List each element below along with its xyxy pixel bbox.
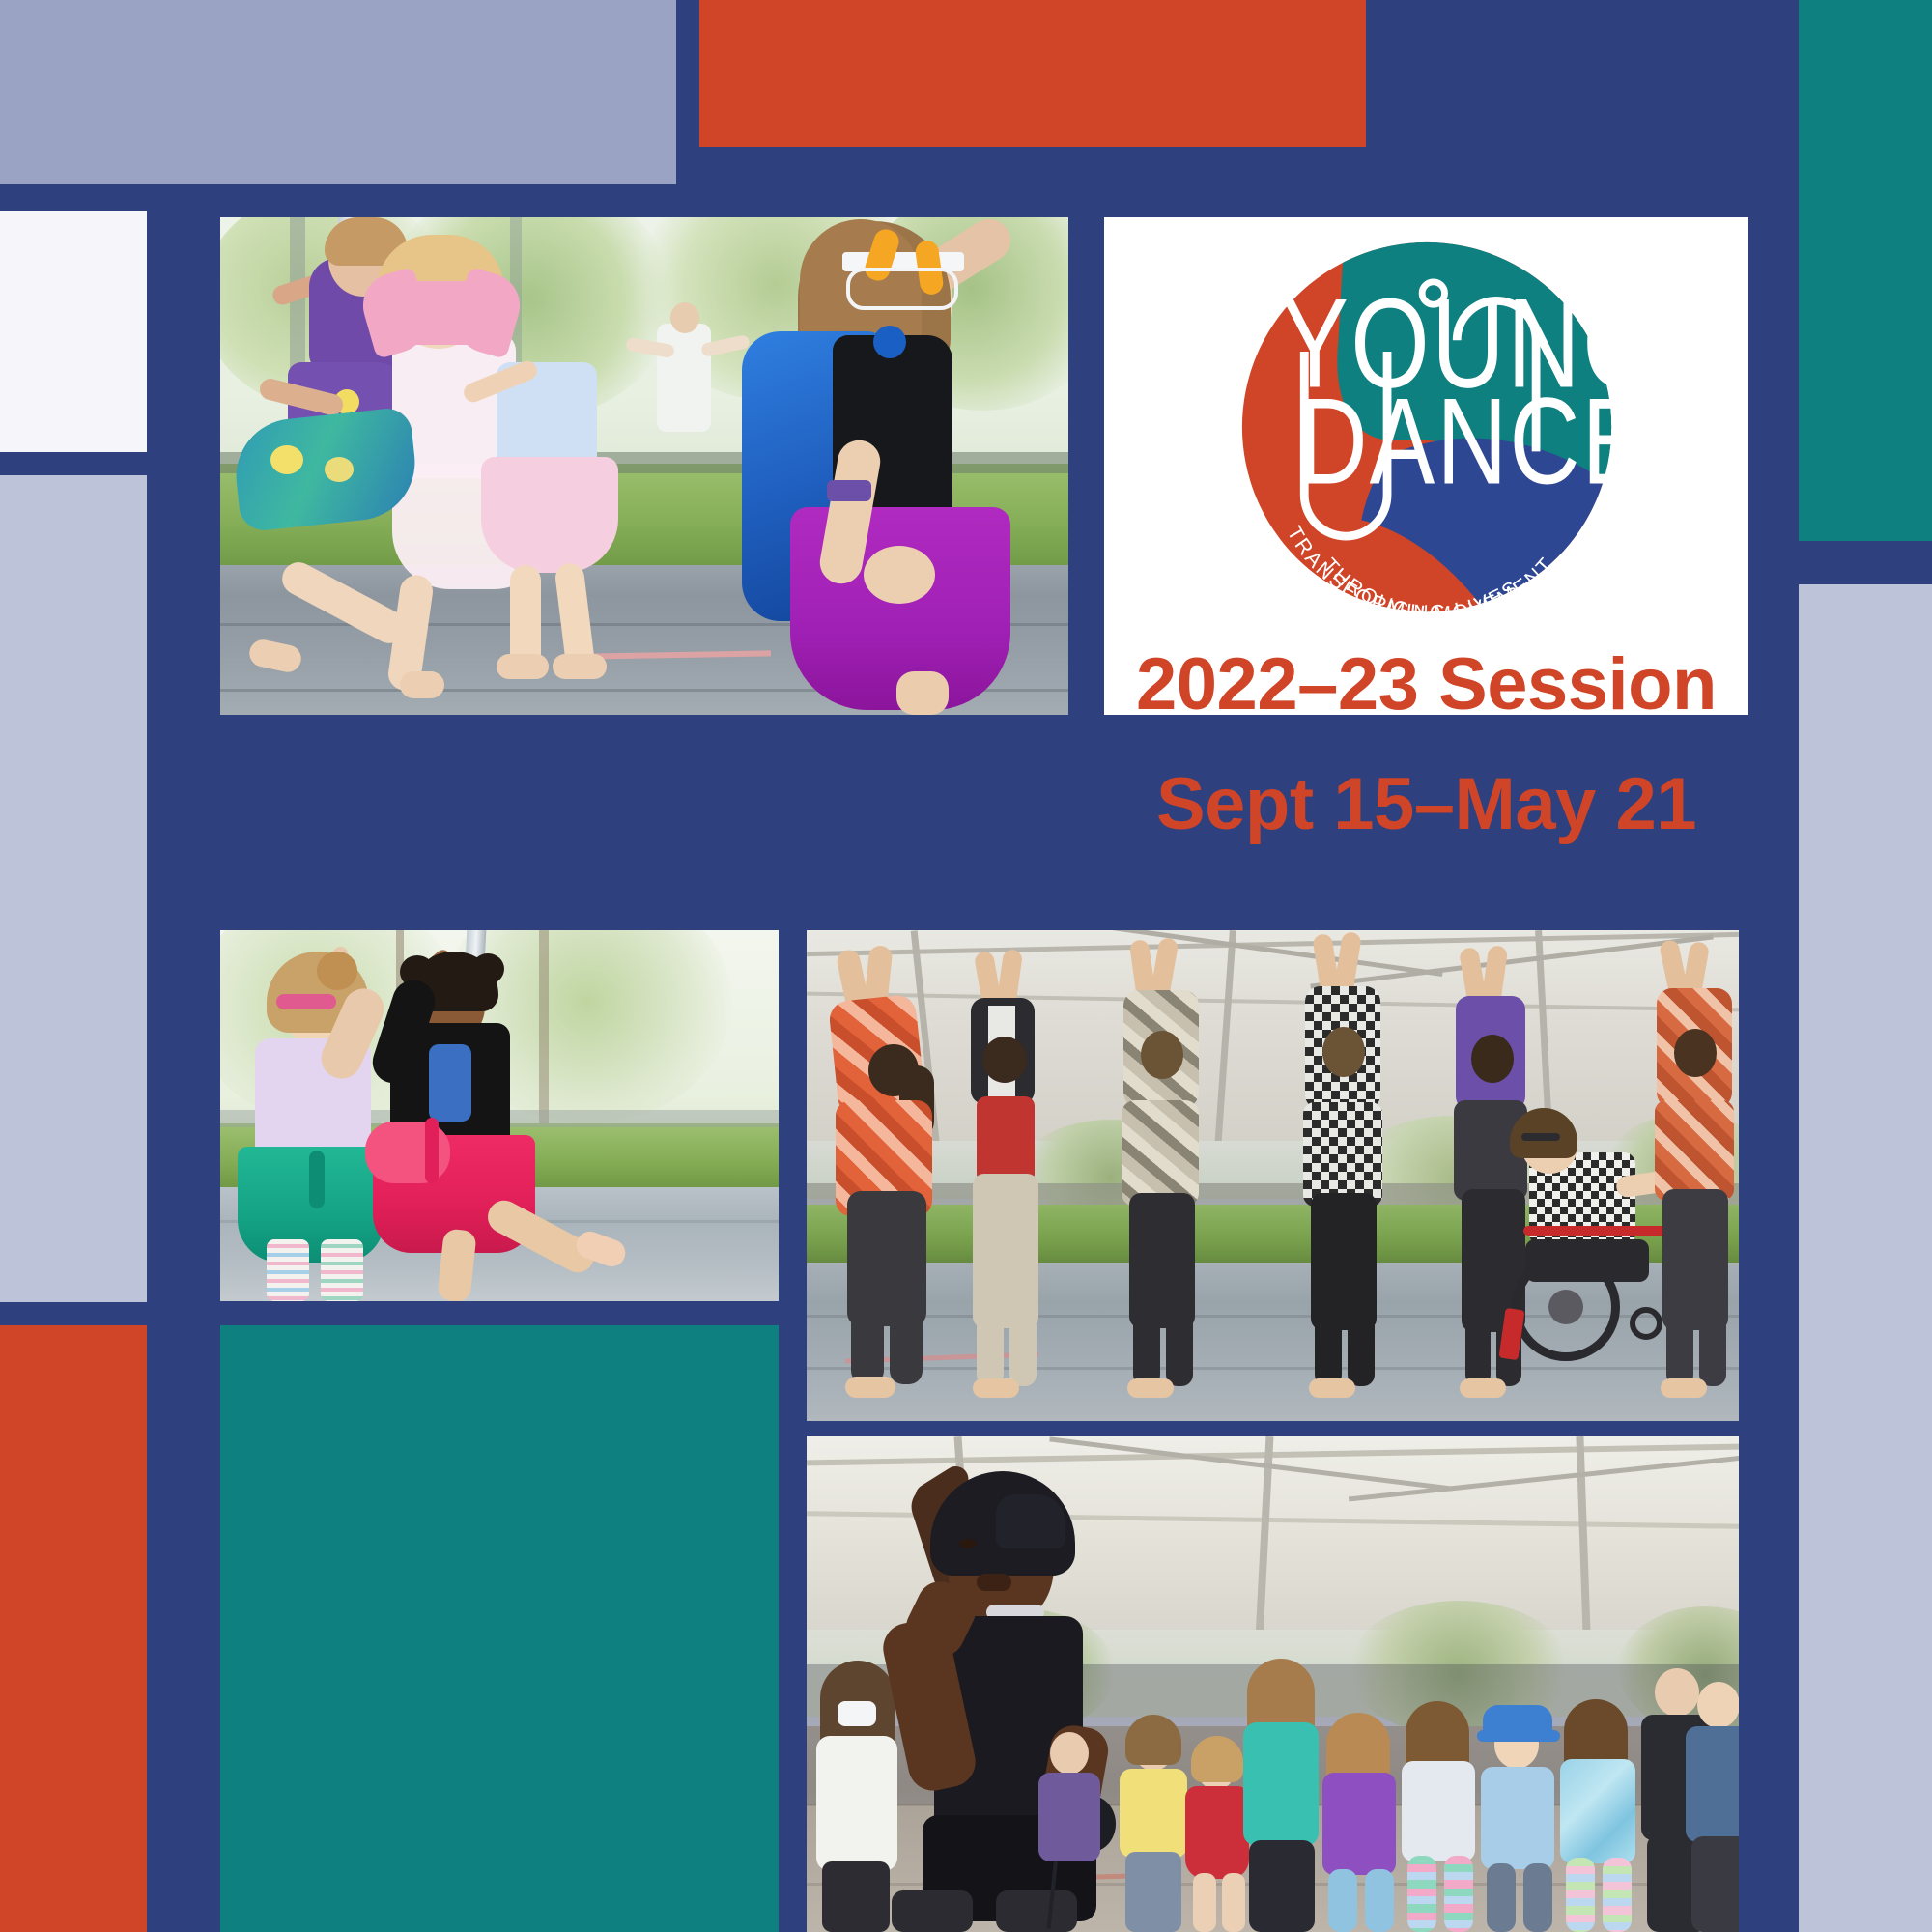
session-dates: Sept 15–May 21 xyxy=(1156,768,1696,841)
block-teal-bottom xyxy=(220,1325,779,1932)
logo-card: YOUNG DANCE TRANSFORMING LIVES xyxy=(1104,217,1748,715)
block-orange-bottom-left xyxy=(0,1325,147,1932)
photo-class-crowd xyxy=(807,1436,1739,1932)
block-orange-top xyxy=(699,0,1366,147)
photo-costumed-dancers xyxy=(220,217,1068,715)
block-periwinkle-top-left xyxy=(0,0,676,184)
block-periwinkle-right xyxy=(1799,584,1932,1932)
block-offwhite-left xyxy=(0,211,147,452)
young-dance-logo: YOUNG DANCE TRANSFORMING LIVES xyxy=(1238,239,1615,615)
photo-group-arms-up xyxy=(807,930,1739,1421)
poster-canvas: YOUNG DANCE TRANSFORMING LIVES xyxy=(0,0,1932,1932)
photo-two-dancers xyxy=(220,930,779,1301)
svg-text:DANCE: DANCE xyxy=(1296,374,1615,510)
block-teal-top-right xyxy=(1799,0,1932,541)
session-title: 2022–23 Session xyxy=(1136,648,1717,722)
block-periwinkle-left xyxy=(0,475,147,1302)
